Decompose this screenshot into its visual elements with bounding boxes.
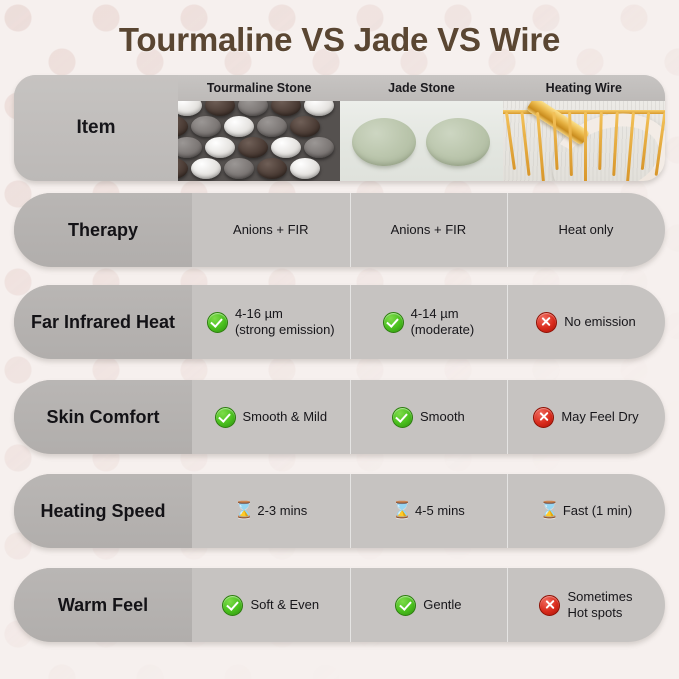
column-header-tourmaline: Tourmaline Stone [178, 75, 340, 101]
table-row-item: Item Tourmaline Stone Jade Stone Heat [14, 75, 665, 181]
row-label-item: Item [14, 75, 178, 181]
cell-text: 4-5 mins [415, 503, 465, 519]
hourglass-icon: ⌛ [540, 501, 556, 521]
cell-warm-tourmaline: Soft & Even [192, 568, 350, 642]
cell-fir-tourmaline: 4-16 µm (strong emission) [192, 285, 350, 359]
item-columns: Tourmaline Stone Jade Stone Heating Wire [178, 75, 665, 181]
cell-therapy-jade: Anions + FIR [350, 193, 508, 267]
cell-text: Heat only [559, 222, 614, 238]
cell-text: Sometimes Hot spots [567, 589, 632, 622]
cell-text: 2-3 mins [257, 503, 307, 519]
cell-speed-wire: ⌛ Fast (1 min) [507, 474, 665, 548]
cell-skin-tourmaline: Smooth & Mild [192, 380, 350, 454]
cell-skin-wire: May Feel Dry [507, 380, 665, 454]
cell-speed-jade: ⌛ 4-5 mins [350, 474, 508, 548]
column-tourmaline: Tourmaline Stone [178, 75, 340, 181]
table-row-heating-speed: Heating Speed ⌛ 2-3 mins ⌛ 4-5 mins ⌛ Fa… [14, 474, 665, 548]
cell-text: Anions + FIR [391, 222, 467, 238]
tourmaline-stones-photo [178, 101, 340, 181]
cross-icon [539, 595, 560, 616]
cell-text: 4-16 µm (strong emission) [235, 306, 335, 339]
cell-fir-jade: 4-14 µm (moderate) [350, 285, 508, 359]
cross-icon [536, 312, 557, 333]
comparison-chart: Tourmaline VS Jade VS Wire Item Tourmali… [0, 0, 679, 679]
check-icon [207, 312, 228, 333]
check-icon [383, 312, 404, 333]
check-icon [395, 595, 416, 616]
table-row-therapy: Therapy Anions + FIR Anions + FIR Heat o… [14, 193, 665, 267]
cell-skin-jade: Smooth [350, 380, 508, 454]
cell-text: No emission [564, 314, 636, 330]
column-header-jade: Jade Stone [340, 75, 502, 101]
table-row-warm-feel: Warm Feel Soft & Even Gentle Sometimes H… [14, 568, 665, 642]
cell-text: Soft & Even [250, 597, 319, 613]
row-label-therapy: Therapy [14, 193, 192, 267]
hourglass-icon: ⌛ [234, 501, 250, 521]
cell-text: Smooth & Mild [243, 409, 328, 425]
jade-stones-photo [340, 101, 502, 181]
hourglass-icon: ⌛ [392, 501, 408, 521]
check-icon [392, 407, 413, 428]
column-jade: Jade Stone [340, 75, 502, 181]
cell-text: Smooth [420, 409, 465, 425]
table-row-far-infrared-heat: Far Infrared Heat 4-16 µm (strong emissi… [14, 285, 665, 359]
row-label-far-infrared-heat: Far Infrared Heat [14, 285, 192, 359]
cell-therapy-wire: Heat only [507, 193, 665, 267]
cell-text: May Feel Dry [561, 409, 638, 425]
check-icon [222, 595, 243, 616]
page-title: Tourmaline VS Jade VS Wire [0, 21, 679, 59]
cell-warm-jade: Gentle [350, 568, 508, 642]
cell-text: Gentle [423, 597, 461, 613]
cell-text: Anions + FIR [233, 222, 309, 238]
cell-text: Fast (1 min) [563, 503, 632, 519]
cell-fir-wire: No emission [507, 285, 665, 359]
table-row-skin-comfort: Skin Comfort Smooth & Mild Smooth May Fe… [14, 380, 665, 454]
cell-therapy-tourmaline: Anions + FIR [192, 193, 350, 267]
heating-wire-photo [503, 101, 665, 181]
cell-speed-tourmaline: ⌛ 2-3 mins [192, 474, 350, 548]
column-heating-wire: Heating Wire [503, 75, 665, 181]
row-label-heating-speed: Heating Speed [14, 474, 192, 548]
check-icon [215, 407, 236, 428]
cell-text: 4-14 µm (moderate) [411, 306, 475, 339]
column-header-heating-wire: Heating Wire [503, 75, 665, 101]
cross-icon [533, 407, 554, 428]
cell-warm-wire: Sometimes Hot spots [507, 568, 665, 642]
row-label-skin-comfort: Skin Comfort [14, 380, 192, 454]
row-label-warm-feel: Warm Feel [14, 568, 192, 642]
